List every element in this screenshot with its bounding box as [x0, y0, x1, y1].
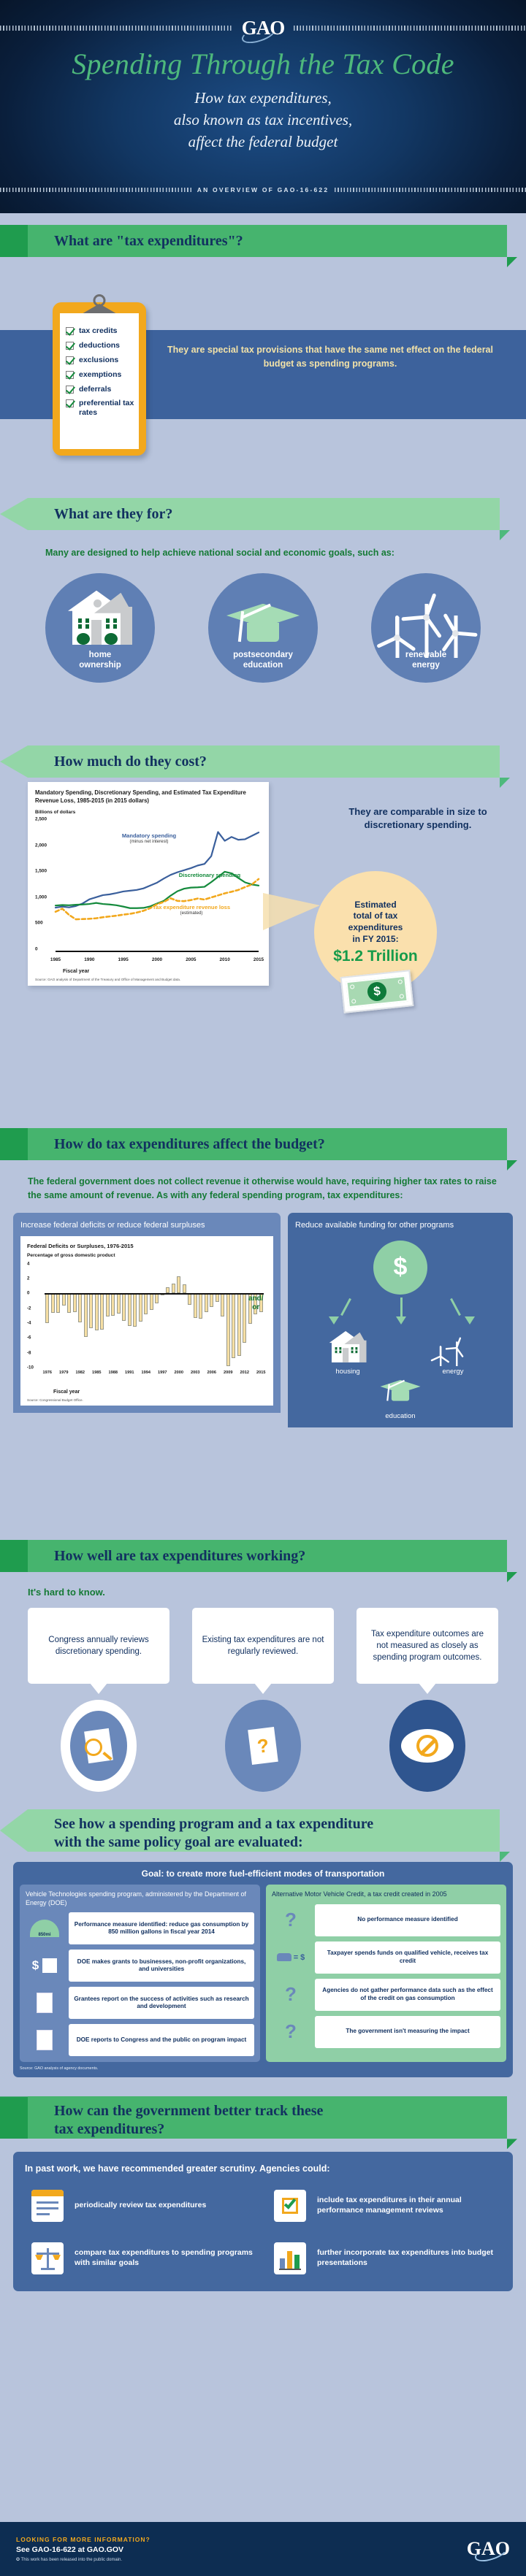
chart-plot-area: 420-2-4-6-8-1019761979198219851988199119… [27, 1260, 267, 1389]
checklist-label: deductions [79, 341, 120, 350]
chart-x-tick: 1985 [92, 1371, 101, 1375]
recommendation-item: further incorporate tax expenditures int… [270, 2239, 498, 2278]
section-budget-impact: The federal government does not collect … [0, 1160, 526, 1540]
checkbox-icon [66, 386, 74, 394]
banner-label-line2: tax expenditures? [54, 2120, 323, 2139]
banner-notch [0, 1540, 28, 1572]
goal-label: renewableenergy [405, 651, 446, 671]
goal-comparison-box: Goal: to create more fuel-efficient mode… [13, 1862, 513, 2077]
equals-dollar: = $ [294, 1953, 305, 1962]
chart-y-tick: 0 [27, 1291, 29, 1296]
clipboard-paper: tax credits deductions exclusions exempt… [60, 313, 139, 449]
infographic-page: GAO Spending Through the Tax Code How ta… [0, 0, 526, 2576]
deficit-bar-chart: Federal Deficits or Surpluses, 1976-2015… [20, 1236, 273, 1406]
calendar-review-icon [28, 2186, 67, 2226]
goal-item-renewable-energy: renewableenergy [371, 573, 481, 683]
checkbox-icon [66, 327, 74, 335]
chart-x-tick: 2000 [175, 1371, 183, 1375]
comparison-row: Grantees report on the success of activi… [26, 1987, 254, 2019]
table-row [188, 1293, 191, 1304]
question-symbol: ? [285, 1909, 297, 1931]
banner-notch [0, 2096, 28, 2139]
chart-x-tick: 2009 [224, 1371, 232, 1375]
dollar-bill-icon: $ [340, 970, 414, 1013]
banner-notch [0, 498, 28, 530]
table-row [67, 1293, 71, 1312]
banner-label: What are "tax expenditures"? [54, 233, 243, 250]
icon-slot: ? [192, 1700, 334, 1792]
chart-y-tick: 4 [27, 1261, 29, 1266]
overview-dots-right [335, 188, 526, 192]
table-row [139, 1293, 142, 1322]
row-text: Performance measure identified: reduce g… [69, 1912, 254, 1944]
footer-link[interactable]: See GAO-16-622 at GAO.GOV [16, 2545, 150, 2554]
clipboard-graphic: tax credits deductions exclusions exempt… [53, 302, 146, 456]
chart-x-tick: 1988 [109, 1371, 118, 1375]
table-row [78, 1293, 82, 1322]
chart-y-tick: -6 [27, 1335, 31, 1341]
checkbox-icon [66, 356, 74, 364]
comparison-row: ? No performance measure identified [272, 1904, 500, 1936]
recommendation-item: compare tax expenditures to spending pro… [28, 2239, 256, 2278]
checklist-label: exclusions [79, 356, 118, 364]
page-title: Spending Through the Tax Code [0, 47, 526, 81]
arrows-group [295, 1296, 506, 1330]
checkbox-icon [66, 342, 74, 350]
grants-money-icon: $ [26, 1950, 64, 1982]
page-subtitle: How tax expenditures, also known as tax … [0, 88, 526, 153]
section-banner-what-are-tax-expenditures: What are "tax expenditures"? [28, 225, 507, 257]
table-row [56, 1293, 60, 1312]
goal-circles: homeownership postsecondaryeducation [0, 573, 526, 683]
recommendation-item: periodically review tax expenditures [28, 2186, 256, 2226]
definition-text: They are special tax provisions that hav… [167, 343, 494, 371]
chart-x-tick: 2003 [191, 1371, 199, 1375]
row-text: Agencies do not gather performance data … [315, 1979, 500, 2011]
table-row [62, 1293, 66, 1305]
banner-label-line1: How can the government better track thes… [54, 2102, 323, 2120]
overview-rule: AN OVERVIEW OF GAO-16-622 [0, 186, 526, 193]
icon-slot [28, 1700, 169, 1792]
chart-y-tick: -8 [27, 1350, 31, 1355]
recommendation-text: further incorporate tax expenditures int… [317, 2248, 498, 2268]
checklist-icon [270, 2186, 310, 2226]
mini-label: housing [321, 1368, 374, 1376]
mini-label: education [374, 1412, 427, 1420]
gao-logo: GAO [232, 18, 294, 38]
banner-label: How much do they cost? [54, 754, 207, 770]
panel-title: Increase federal deficits or reduce fede… [20, 1220, 273, 1230]
table-row [51, 1293, 55, 1312]
table-row [177, 1276, 180, 1293]
house-icon [321, 1331, 374, 1365]
section-recommendations: In past work, we have recommended greate… [0, 2152, 526, 2291]
question-mark-icon: ? [272, 1979, 310, 2011]
column-spending-program: Vehicle Technologies spending program, a… [20, 1885, 260, 2062]
chart-legend-label: Tax expenditure revenue loss [150, 904, 232, 911]
footer: LOOKING FOR MORE INFORMATION? See GAO-16… [0, 2522, 526, 2576]
banner-notch [0, 745, 28, 778]
checklist-item: exclusions [66, 356, 139, 364]
chart-x-tick: 2012 [240, 1371, 249, 1375]
callout-cone [263, 893, 320, 930]
mini-item-housing: housing [321, 1331, 374, 1376]
recommendation-item: include tax expenditures in their annual… [270, 2186, 498, 2226]
subtitle-line-2: also known as tax incentives, [0, 110, 526, 131]
table-row [150, 1293, 153, 1309]
table-row [237, 1293, 241, 1355]
graduation-cap-icon [374, 1380, 427, 1409]
gauge-label: 850mi [38, 1933, 50, 1937]
comparison-row: ? Agencies do not gather performance dat… [272, 1979, 500, 2011]
table-row [221, 1293, 224, 1316]
hero-header: GAO Spending Through the Tax Code How ta… [0, 0, 526, 213]
section-banner-better-track: How can the government better track thes… [28, 2096, 507, 2139]
overview-dots-left [0, 188, 191, 192]
budget-lead: The federal government does not collect … [28, 1175, 498, 1203]
graduation-cap-icon [226, 604, 300, 648]
panel-increase-deficits: Increase federal deficits or reduce fede… [13, 1213, 281, 1413]
comparison-columns: Vehicle Technologies spending program, a… [20, 1885, 506, 2062]
bubble-amount: $1.2 Trillion [333, 948, 418, 965]
header-rule: GAO [0, 24, 526, 31]
row-text: DOE makes grants to businesses, non-prof… [69, 1950, 254, 1982]
chart-zero-line [45, 1293, 264, 1295]
table-row [226, 1293, 230, 1365]
table-row [111, 1293, 115, 1315]
footer-gao-logo: GAO [467, 2538, 510, 2560]
checklist-item: deferrals [66, 385, 139, 394]
table-row [106, 1293, 110, 1316]
report-number: AN OVERVIEW OF GAO-16-622 [197, 186, 329, 193]
question-symbol: ? [285, 1983, 297, 2006]
banner-label-line1: See how a spending program and a tax exp… [54, 1815, 373, 1833]
banner-notch [0, 1128, 28, 1160]
goal-item-postsecondary-education: postsecondaryeducation [208, 573, 318, 683]
footer-note: ✪ This work has been released into the p… [16, 2557, 150, 2562]
section-comparison: Goal: to create more fuel-efficient mode… [0, 1862, 526, 2077]
chart-plot-area: 05001,0001,5002,0002,5001985199019952000… [35, 816, 260, 968]
question-document-icon: ? [225, 1700, 301, 1792]
table-row [144, 1293, 148, 1314]
column-title: Alternative Motor Vehicle Credit, a tax … [272, 1890, 500, 1899]
section-cost: Mandatory Spending, Discretionary Spendi… [0, 778, 526, 1128]
chart-ylabel: Percentage of gross domestic product [27, 1253, 267, 1258]
wind-turbine-icon [427, 1331, 479, 1365]
goal-item-home-ownership: homeownership [45, 573, 155, 683]
table-row [122, 1293, 126, 1321]
mini-item-education: education [374, 1380, 427, 1420]
car-equals-money-icon: = $ [272, 1941, 310, 1974]
table-row [243, 1293, 246, 1343]
table-row [172, 1284, 175, 1293]
banner-label-line2: with the same policy goal are evaluated: [54, 1833, 373, 1852]
row-text: The government isn't measuring the impac… [315, 2016, 500, 2048]
subtitle-line-1: How tax expenditures, [0, 88, 526, 110]
row-text: Taxpayer spends funds on qualified vehic… [315, 1941, 500, 1974]
chart-xlabel: Fiscal year [63, 969, 262, 974]
banner-notch [0, 225, 28, 257]
banner-label: What are they for? [54, 506, 172, 523]
scales-balance-icon [28, 2239, 67, 2278]
table-row [117, 1293, 121, 1313]
banner-notch [0, 1809, 28, 1852]
comparison-row: DOE reports to Congress and the public o… [26, 2024, 254, 2056]
recommendation-grid: periodically review tax expenditures inc… [25, 2186, 501, 2278]
table-row [232, 1293, 235, 1357]
mini-item-energy: energy [427, 1331, 479, 1376]
section-banner-compare-evaluation: See how a spending program and a tax exp… [28, 1809, 500, 1852]
chart-title: Mandatory Spending, Discretionary Spendi… [35, 789, 262, 805]
comparison-row: $ DOE makes grants to businesses, non-pr… [26, 1950, 254, 1982]
chart-y-tick: 2 [27, 1276, 29, 1281]
row-text: Grantees report on the success of activi… [69, 1987, 254, 2019]
table-row [95, 1293, 99, 1330]
table-row [128, 1293, 131, 1326]
dollar-circle-icon: $ [373, 1241, 427, 1295]
banner-tail [507, 2139, 517, 2149]
speech-bubbles: Congress annually reviews discretionary … [0, 1608, 526, 1684]
chart-y-tick: -10 [27, 1365, 34, 1370]
eye-blocked-icon [389, 1700, 465, 1792]
bubble-label: Estimated total of tax expenditures in F… [348, 900, 403, 945]
bar-chart-icon [270, 2239, 310, 2278]
bubble-icons: ? [0, 1700, 526, 1792]
chart-x-tick: 1976 [43, 1371, 52, 1375]
section-banner-how-well-working: How well are tax expenditures working? [28, 1540, 507, 1572]
subtitle-line-3: affect the federal budget [0, 131, 526, 153]
chart-x-tick: 1991 [125, 1371, 134, 1375]
chart-xlabel: Fiscal year [53, 1389, 267, 1395]
table-row [45, 1293, 49, 1323]
hard-to-know-text: It's hard to know. [28, 1587, 498, 1598]
table-row [133, 1293, 137, 1327]
table-row [199, 1293, 202, 1318]
speech-bubble: Tax expenditure outcomes are not measure… [357, 1608, 498, 1684]
comparison-row: = $ Taxpayer spends funds on qualified v… [272, 1941, 500, 1974]
chart-ylabel: Billions of dollars [35, 810, 262, 815]
wind-turbine-icon [371, 585, 481, 661]
table-row [205, 1293, 208, 1311]
chart-x-tick: 2015 [256, 1371, 265, 1375]
checkbox-icon [66, 399, 74, 407]
banner-tail [500, 1852, 510, 1862]
table-row [194, 1293, 197, 1317]
recommendation-text: include tax expenditures in their annual… [317, 2196, 498, 2215]
recommendation-text: periodically review tax expenditures [75, 2201, 206, 2211]
chart-y-tick: -4 [27, 1320, 31, 1325]
table-row [100, 1293, 104, 1330]
column-title: Vehicle Technologies spending program, a… [26, 1890, 254, 1907]
chart-title: Federal Deficits or Surpluses, 1976-2015 [27, 1243, 267, 1249]
chart-legend-label: Discretionary spending [178, 872, 241, 878]
chart-legend-sublabel: (minus net interest) [105, 839, 193, 844]
chart-x-tick: 1982 [76, 1371, 85, 1375]
icon-slot [357, 1700, 498, 1792]
comparison-source: Source: GAO analysis of agency documents… [20, 2066, 506, 2071]
table-row [210, 1293, 213, 1306]
speech-bubble: Congress annually reviews discretionary … [28, 1608, 169, 1684]
and-or-label: and/or [248, 1295, 264, 1312]
checklist-item: preferential tax rates [66, 399, 139, 417]
chart-x-tick: 2006 [207, 1371, 216, 1375]
goal-statement: Goal: to create more fuel-efficient mode… [20, 1868, 506, 1879]
section-banner-affect-budget: How do tax expenditures affect the budge… [28, 1128, 507, 1160]
house-icon [62, 591, 138, 645]
question-mark-icon: ? [272, 1904, 310, 1936]
report-icon [26, 2024, 64, 2056]
chart-x-tick: 1994 [142, 1371, 150, 1375]
chart-y-tick: -2 [27, 1306, 31, 1311]
checklist-item: deductions [66, 341, 139, 350]
table-row [183, 1284, 186, 1293]
table-row [84, 1293, 88, 1337]
panel-reduce-funding: Reduce available funding for other progr… [288, 1213, 513, 1427]
chart-legend-label: Mandatory spending [105, 832, 193, 839]
table-row [89, 1293, 93, 1328]
section-definition: tax credits deductions exclusions exempt… [0, 257, 526, 498]
question-symbol: ? [285, 2020, 297, 2043]
chart-source: Source: GAO analysis of Department of th… [35, 978, 262, 981]
column-tax-credit: Alternative Motor Vehicle Credit, a tax … [266, 1885, 506, 2062]
section-banner-how-much-do-they-cost: How much do they cost? [28, 745, 500, 778]
chart-x-tick: 1979 [59, 1371, 68, 1375]
dotted-rule-right [294, 26, 526, 31]
table-row [73, 1293, 77, 1311]
gas-gauge-icon: 850mi [26, 1912, 64, 1944]
section-working: It's hard to know. Congress annually rev… [0, 1572, 526, 1792]
goal-label: homeownership [79, 651, 121, 671]
chart-legend: Mandatory spending(minus net interest) [105, 832, 193, 845]
question-mark-icon: ? [272, 2016, 310, 2048]
checklist-label: preferential tax rates [79, 399, 139, 417]
spending-line-chart: Mandatory Spending, Discretionary Spendi… [28, 782, 269, 986]
table-row [166, 1287, 169, 1293]
comparison-row: ? The government isn't measuring the imp… [272, 2016, 500, 2048]
banner-label: How do tax expenditures affect the budge… [54, 1136, 325, 1153]
section-banner-what-are-they-for: What are they for? [28, 498, 500, 530]
section-goals: Many are designed to help achieve nation… [0, 530, 526, 745]
cost-callout-text: They are comparable in size to discretio… [332, 805, 504, 832]
row-text: DOE reports to Congress and the public o… [69, 2024, 254, 2056]
panel-title: Reduce available funding for other progr… [295, 1220, 506, 1230]
speech-bubble: Existing tax expenditures are not regula… [192, 1608, 334, 1684]
checklist-label: exemptions [79, 370, 121, 379]
checklist-item: exemptions [66, 370, 139, 379]
dollar-symbol: $ [32, 1958, 39, 1973]
mini-label: energy [427, 1368, 479, 1376]
document-review-icon [61, 1700, 137, 1792]
checklist-label: tax credits [79, 326, 118, 335]
checklist-label: deferrals [79, 385, 111, 394]
row-text: No performance measure identified [315, 1904, 500, 1936]
chart-legend: Discretionary spending [178, 872, 241, 878]
chart-x-tick: 1997 [158, 1371, 167, 1375]
comparison-row: 850mi Performance measure identified: re… [26, 1912, 254, 1944]
dotted-rule-left [0, 26, 232, 31]
banner-label: How well are tax expenditures working? [54, 1548, 305, 1565]
recommendations-lead: In past work, we have recommended greate… [25, 2162, 501, 2176]
goal-label: postsecondaryeducation [233, 651, 293, 671]
report-icon [26, 1987, 64, 2019]
recommendation-text: compare tax expenditures to spending pro… [75, 2248, 256, 2268]
checklist-item: tax credits [66, 326, 139, 335]
chart-legend: Tax expenditure revenue loss(estimated) [150, 904, 232, 916]
chart-source: Source: Congressional Budget Office. [27, 1398, 267, 1402]
chart-legend-sublabel: (estimated) [150, 911, 232, 916]
footer-heading: LOOKING FOR MORE INFORMATION? [16, 2536, 150, 2543]
checkbox-icon [66, 371, 74, 379]
goals-lead: Many are designed to help achieve nation… [45, 546, 481, 560]
